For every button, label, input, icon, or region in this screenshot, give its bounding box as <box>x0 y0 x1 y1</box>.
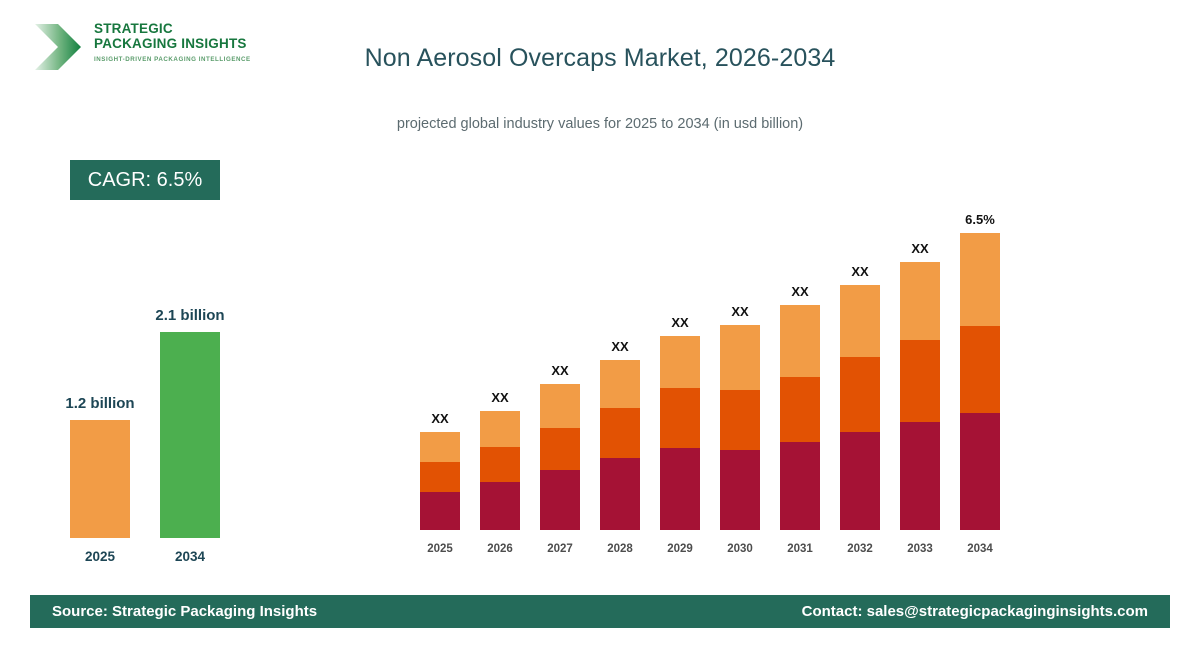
stacked-bar-segment-middle <box>480 447 520 482</box>
stacked-bar <box>540 384 580 530</box>
cagr-badge: CAGR: 6.5% <box>70 160 220 200</box>
stacked-bar-value-label: XX <box>590 339 650 354</box>
stacked-bar <box>960 233 1000 530</box>
cagr-badge-label: CAGR: 6.5% <box>88 169 202 192</box>
stacked-bar-axis-label: 2030 <box>710 543 770 555</box>
comparison-column: 1.2 billion2025 <box>55 300 145 570</box>
stacked-column: XX2033 <box>890 195 950 565</box>
stacked-bar-segment-bottom <box>660 448 700 530</box>
stacked-bar-segment-top <box>840 285 880 357</box>
stacked-bar-value-label: XX <box>770 284 830 299</box>
stacked-bar <box>780 305 820 530</box>
stacked-bar-axis-label: 2033 <box>890 543 950 555</box>
comparison-bar-chart: 1.2 billion20252.1 billion2034 <box>55 300 305 570</box>
stacked-bar <box>840 285 880 530</box>
stacked-column: XX2029 <box>650 195 710 565</box>
stacked-bar-axis-label: 2025 <box>410 543 470 555</box>
stacked-bar-segment-middle <box>720 390 760 450</box>
stacked-bar-segment-bottom <box>420 492 460 530</box>
stacked-bar-segment-bottom <box>840 432 880 530</box>
stacked-bar-value-label: XX <box>470 390 530 405</box>
stacked-bar-segment-middle <box>660 388 700 448</box>
stacked-bar-segment-top <box>720 325 760 390</box>
stacked-bar-segment-middle <box>900 340 940 422</box>
stacked-bar <box>900 262 940 530</box>
stacked-bar-value-label: XX <box>650 315 710 330</box>
stacked-bar-axis-label: 2034 <box>950 543 1010 555</box>
comparison-column: 2.1 billion2034 <box>145 300 235 570</box>
stacked-bar-segment-top <box>600 360 640 408</box>
stacked-bar-axis-label: 2028 <box>590 543 650 555</box>
stacked-column: XX2031 <box>770 195 830 565</box>
stacked-bar <box>420 432 460 530</box>
stacked-column: XX2028 <box>590 195 650 565</box>
comparison-bar <box>70 420 130 538</box>
stacked-bar-segment-top <box>480 411 520 447</box>
stacked-bar-segment-middle <box>780 377 820 442</box>
stacked-bar-value-label: XX <box>410 411 470 426</box>
stacked-bar <box>660 336 700 530</box>
stacked-bar-value-label: XX <box>830 264 890 279</box>
stacked-bar-segment-top <box>900 262 940 340</box>
comparison-bar-value: 1.2 billion <box>55 395 145 412</box>
footer-bar: Source: Strategic Packaging Insights Con… <box>30 595 1170 628</box>
stacked-bar-segment-bottom <box>480 482 520 530</box>
stacked-bar-value-label: XX <box>890 241 950 256</box>
stacked-bar-segment-top <box>780 305 820 377</box>
stacked-column: 6.5%2034 <box>950 195 1010 565</box>
comparison-bar <box>160 332 220 538</box>
stacked-bar-segment-bottom <box>540 470 580 530</box>
stacked-bar <box>480 411 520 530</box>
stacked-bar-segment-top <box>960 233 1000 326</box>
stacked-bar-segment-bottom <box>600 458 640 530</box>
page-title: Non Aerosol Overcaps Market, 2026-2034 <box>0 44 1200 73</box>
stacked-column: XX2026 <box>470 195 530 565</box>
stacked-bar <box>600 360 640 530</box>
stacked-column: XX2025 <box>410 195 470 565</box>
stacked-bar-segment-bottom <box>900 422 940 530</box>
stacked-bar <box>720 325 760 530</box>
stacked-bar-segment-bottom <box>780 442 820 530</box>
page-subtitle: projected global industry values for 202… <box>0 116 1200 132</box>
stacked-column: XX2032 <box>830 195 890 565</box>
stacked-column: XX2030 <box>710 195 770 565</box>
stacked-bar-segment-bottom <box>960 413 1000 530</box>
stacked-bar-segment-middle <box>420 462 460 492</box>
stacked-bar-axis-label: 2029 <box>650 543 710 555</box>
comparison-bar-label: 2025 <box>55 549 145 564</box>
stacked-bar-axis-label: 2031 <box>770 543 830 555</box>
stacked-bar-segment-middle <box>840 357 880 432</box>
footer-source: Source: Strategic Packaging Insights <box>52 603 317 620</box>
footer-contact: Contact: sales@strategicpackaginginsight… <box>802 603 1148 620</box>
stacked-bar-segment-top <box>420 432 460 462</box>
stacked-bar-segment-bottom <box>720 450 760 530</box>
stacked-bar-axis-label: 2026 <box>470 543 530 555</box>
stacked-bar-value-label: XX <box>530 363 590 378</box>
comparison-bar-label: 2034 <box>145 549 235 564</box>
stacked-bar-segment-top <box>660 336 700 388</box>
stacked-bar-axis-label: 2032 <box>830 543 890 555</box>
comparison-bar-value: 2.1 billion <box>145 307 235 324</box>
stacked-bar-chart: XX2025XX2026XX2027XX2028XX2029XX2030XX20… <box>410 195 1010 565</box>
stacked-bar-segment-middle <box>600 408 640 458</box>
stacked-bar-segment-middle <box>960 326 1000 413</box>
stacked-bar-value-label: 6.5% <box>950 212 1010 227</box>
logo-line-1: STRATEGIC <box>94 22 264 37</box>
stacked-bar-value-label: XX <box>710 304 770 319</box>
stacked-column: XX2027 <box>530 195 590 565</box>
stacked-bar-segment-top <box>540 384 580 428</box>
stacked-bar-axis-label: 2027 <box>530 543 590 555</box>
stacked-bar-segment-middle <box>540 428 580 470</box>
